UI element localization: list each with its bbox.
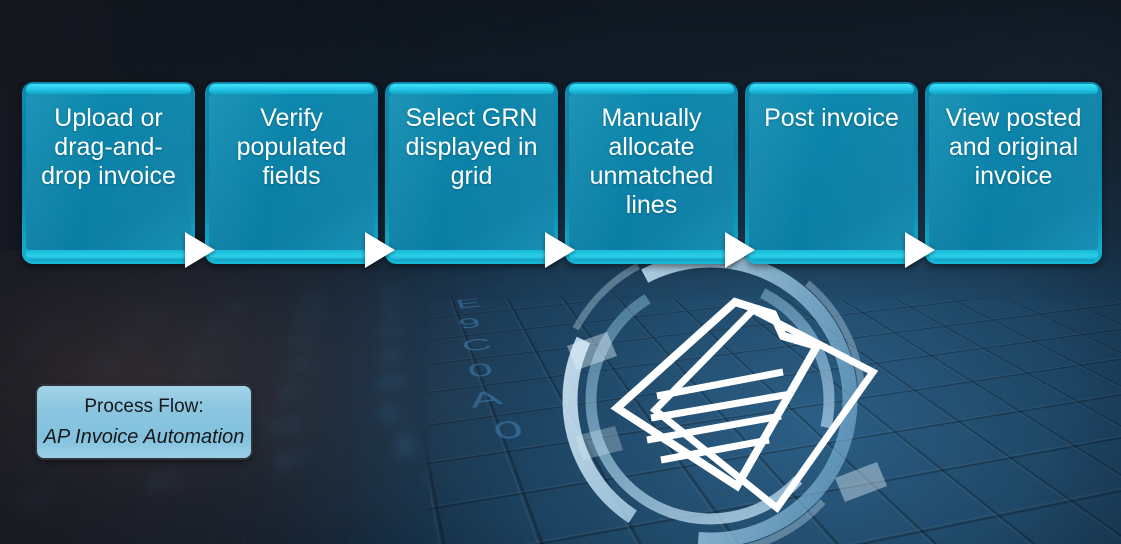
process-flow-row: Upload or drag-and-drop invoice Verify p… xyxy=(22,82,1102,264)
process-step-5[interactable]: Post invoice xyxy=(745,82,918,264)
step-bevel-top xyxy=(569,84,734,94)
step-bevel-top xyxy=(209,84,374,94)
step-bevel-top xyxy=(26,84,191,94)
step-bevel-top xyxy=(929,84,1098,94)
process-step-2[interactable]: Verify populated fields xyxy=(205,82,378,264)
arrow-right-icon xyxy=(362,230,396,270)
document-pages-icon xyxy=(505,250,925,544)
process-step-label: Post invoice xyxy=(753,104,910,133)
document-text-lines xyxy=(647,372,791,460)
step-bevel-top xyxy=(749,84,914,94)
process-step-label: Select GRN displayed in grid xyxy=(393,104,550,191)
process-step-label: View posted and original invoice xyxy=(933,104,1094,191)
process-flow-caption: Process Flow: AP Invoice Automation xyxy=(35,384,253,460)
step-bevel-bottom xyxy=(209,250,374,261)
step-bevel-bottom xyxy=(929,250,1098,261)
process-step-6[interactable]: View posted and original invoice xyxy=(925,82,1102,264)
arrow-right-icon xyxy=(542,230,576,270)
process-step-3[interactable]: Select GRN displayed in grid xyxy=(385,82,558,264)
arrow-right-icon xyxy=(182,230,216,270)
step-bevel-bottom xyxy=(26,250,191,261)
process-step-1[interactable]: Upload or drag-and-drop invoice xyxy=(22,82,195,264)
step-bevel-top xyxy=(389,84,554,94)
step-bevel-bottom xyxy=(749,250,914,261)
process-step-4[interactable]: Manually allocate unmatched lines xyxy=(565,82,738,264)
step-bevel-bottom xyxy=(389,250,554,261)
process-step-label: Manually allocate unmatched lines xyxy=(573,104,730,220)
circular-ring-icon xyxy=(505,250,925,544)
arrow-right-icon xyxy=(722,230,756,270)
step-bevel-bottom xyxy=(569,250,734,261)
process-step-label: Upload or drag-and-drop invoice xyxy=(30,104,187,191)
caption-subtitle: AP Invoice Automation xyxy=(44,426,245,448)
process-step-label: Verify populated fields xyxy=(213,104,370,191)
slide-canvas: A E C D 1 E A E A E 9 C D 1 E 2 A 0 E D … xyxy=(0,0,1121,544)
arrow-right-icon xyxy=(902,230,936,270)
caption-title: Process Flow: xyxy=(84,396,203,417)
